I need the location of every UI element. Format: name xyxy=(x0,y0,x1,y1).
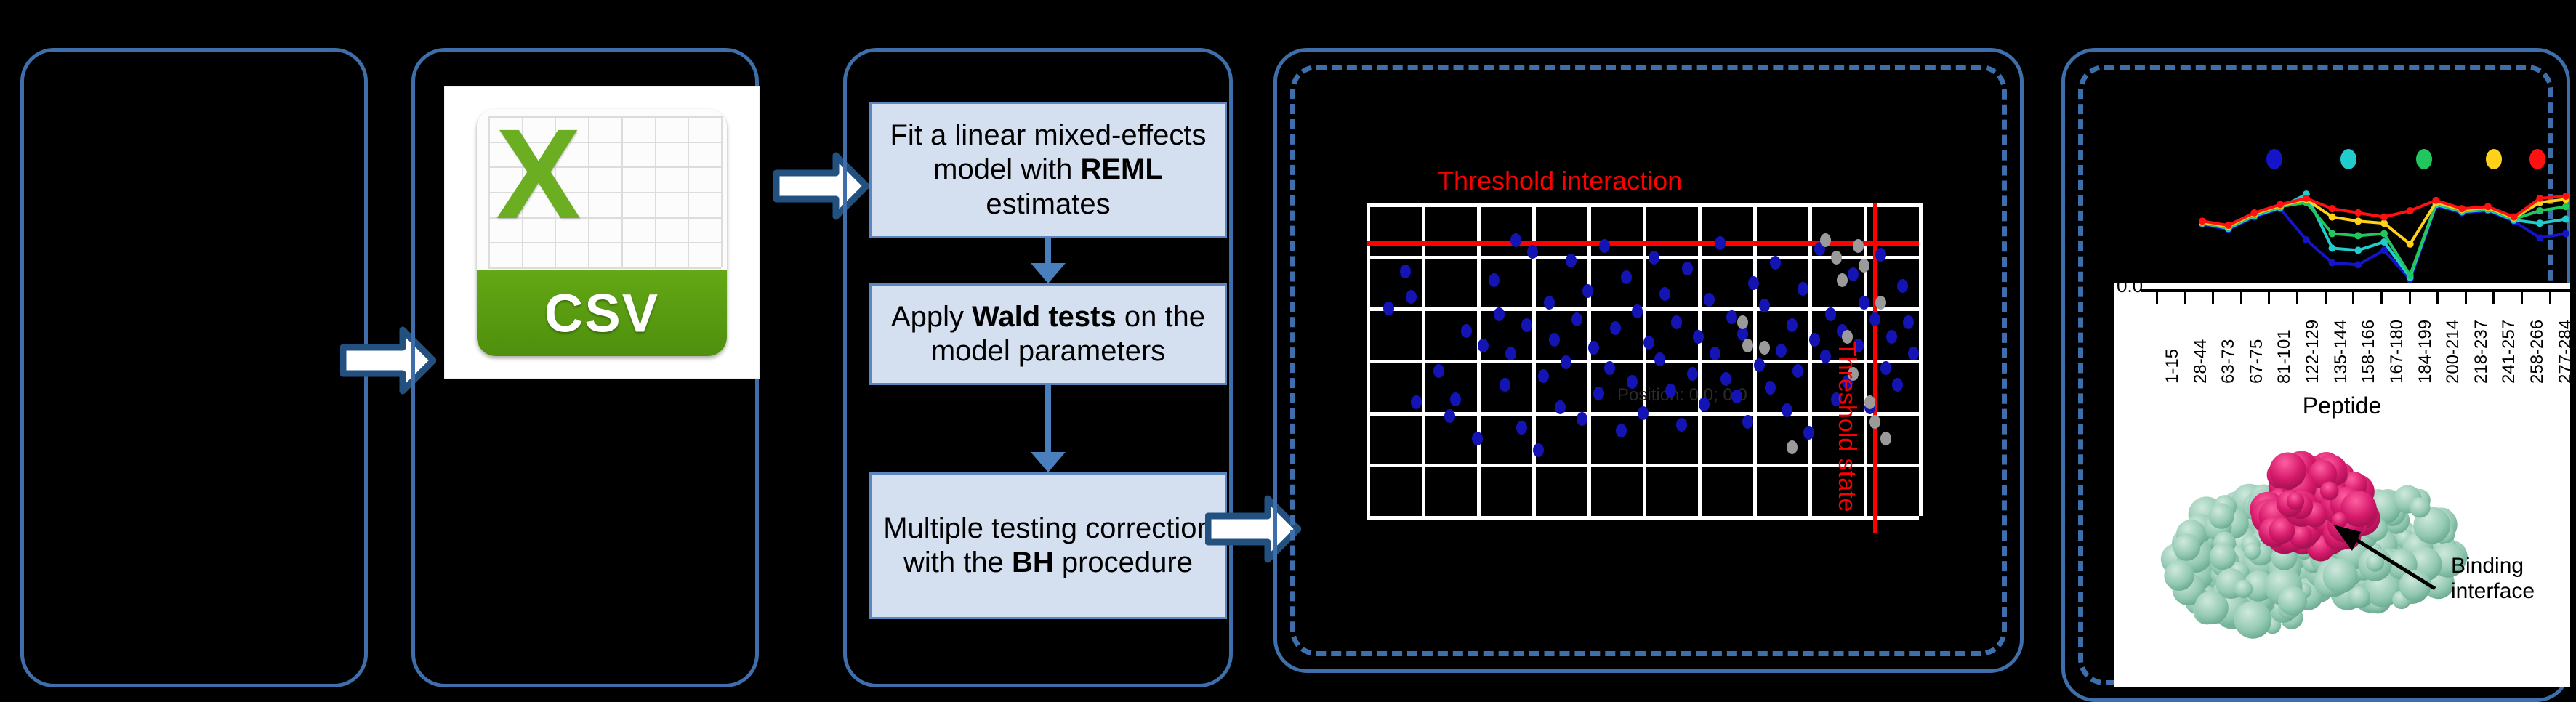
connector-arrowhead-2 xyxy=(1031,452,1066,472)
flow-step-wald[interactable]: Apply Wald tests on the model parameters xyxy=(869,283,1227,385)
y-axis-tick-label: 0.0 xyxy=(2117,283,2143,297)
scatter-point xyxy=(1478,339,1489,352)
panel-data-source xyxy=(20,48,368,687)
axis-tick-label: 135-144 xyxy=(2331,320,2351,384)
scatter-point xyxy=(1649,251,1659,265)
surface-blob xyxy=(2320,482,2339,501)
scatter-point xyxy=(1903,315,1914,329)
peptide-series-marker xyxy=(2329,214,2336,221)
axis-tick xyxy=(2521,292,2523,304)
axis-tick xyxy=(2380,292,2383,304)
scatter-point xyxy=(1820,233,1831,247)
peptide-series-marker xyxy=(2536,219,2543,227)
axis-tick-label: 258-266 xyxy=(2527,320,2548,384)
scatter-point xyxy=(1638,406,1649,420)
scatter-point xyxy=(1892,378,1903,392)
scatter-point xyxy=(1621,270,1632,284)
legend-dot xyxy=(2340,149,2356,169)
scatter-point xyxy=(1748,276,1759,290)
scatter-point xyxy=(1654,352,1665,366)
axis-tick xyxy=(2296,292,2298,304)
peptide-series-marker xyxy=(2407,272,2414,279)
csv-label: CSV xyxy=(477,283,727,344)
peptide-series-marker xyxy=(2562,203,2569,210)
surface-blob xyxy=(2234,601,2272,639)
scatter-point xyxy=(1665,384,1676,398)
axis-tick-label: 63-73 xyxy=(2218,339,2239,384)
axis-tick xyxy=(2268,292,2270,304)
scatter-point xyxy=(1676,418,1687,432)
scatter-point xyxy=(1886,330,1897,344)
axis-tick xyxy=(2436,292,2439,304)
scatter-point xyxy=(1869,415,1880,429)
peptide-series-marker xyxy=(2250,209,2258,217)
axis-tick-label: 200-214 xyxy=(2443,320,2463,384)
scatter-point xyxy=(1792,364,1803,378)
connector-arrowhead-1 xyxy=(1031,263,1066,283)
axis-tick-label: 1-15 xyxy=(2162,349,2183,384)
axis-tick xyxy=(2240,292,2242,304)
scatter-point xyxy=(1561,355,1571,369)
peptide-traces xyxy=(2093,149,2573,287)
axis-tick-label: 218-237 xyxy=(2471,320,2492,384)
surface-blob xyxy=(2244,543,2261,560)
scatter-point xyxy=(1500,378,1510,392)
surface-blob xyxy=(2278,586,2307,616)
scatter-point xyxy=(1737,315,1748,329)
x-axis-ticks xyxy=(2141,292,2570,305)
peptide-series-marker xyxy=(2303,195,2310,202)
axis-tick-label: 81-101 xyxy=(2274,329,2295,384)
scatter-point xyxy=(1798,282,1808,296)
axis-tick xyxy=(2156,292,2158,304)
surface-blob xyxy=(2269,453,2306,489)
peptide-series-marker xyxy=(2536,207,2543,214)
scatter-point xyxy=(1742,339,1753,352)
legend-dot xyxy=(2486,149,2502,169)
axis-tick-label: 158-166 xyxy=(2359,320,2379,384)
csv-file-icon: X CSV xyxy=(445,87,759,378)
threshold-interaction-label: Threshold interaction xyxy=(1438,166,1682,196)
surface-blob xyxy=(2323,559,2358,594)
scatter-point xyxy=(1837,273,1848,287)
surface-blob xyxy=(2208,503,2234,528)
axis-tick-label: 277-284 xyxy=(2556,320,2570,384)
scatter-point xyxy=(1411,395,1422,409)
figure-canvas: X CSV Fit a linear mixed-effects model w… xyxy=(0,0,2576,687)
scatter-point xyxy=(1544,296,1555,310)
peptide-series-marker xyxy=(2511,214,2518,221)
axis-tick-label: 67-75 xyxy=(2247,339,2267,384)
axis-tick xyxy=(2325,292,2327,304)
peptide-series-marker xyxy=(2562,230,2569,238)
scatter-point xyxy=(1461,324,1472,338)
scatter-point xyxy=(1671,315,1682,329)
peptide-series-marker xyxy=(2407,241,2414,248)
scatter-point xyxy=(1875,248,1886,262)
axis-tick-label: 122-129 xyxy=(2303,320,2323,384)
legend-dot xyxy=(2416,149,2432,169)
peptide-series-marker xyxy=(2199,217,2206,225)
scatter-point xyxy=(1588,341,1599,355)
scatter-point xyxy=(1599,239,1610,253)
peptide-series-marker xyxy=(2277,201,2284,208)
scatter-point xyxy=(1516,421,1527,435)
scatter-point xyxy=(1726,310,1737,324)
legend-dot xyxy=(2266,149,2282,169)
peptide-series-marker xyxy=(2354,217,2362,225)
axis-tick xyxy=(2549,292,2551,304)
peptide-series-marker xyxy=(2225,222,2232,229)
legend-dot xyxy=(2529,149,2545,169)
connector-1 xyxy=(1045,238,1051,266)
axis-tick xyxy=(2184,292,2186,304)
peptide-series-marker xyxy=(2380,214,2388,221)
scatter-point xyxy=(1593,387,1604,400)
binding-interface-annotation: Binding interface xyxy=(2451,554,2567,604)
peptide-series-marker xyxy=(2536,234,2543,241)
peptide-series-marker xyxy=(2484,203,2492,210)
axis-tick-label: 28-44 xyxy=(2191,339,2211,384)
axis-tick-label: 167-180 xyxy=(2387,320,2407,384)
peptide-series-marker xyxy=(2303,236,2310,243)
peptide-series-marker xyxy=(2329,205,2336,212)
peptide-series-marker xyxy=(2329,245,2336,252)
scatter-point xyxy=(1831,251,1842,265)
peptide-series-marker xyxy=(2432,197,2439,204)
peptide-series-marker xyxy=(2380,219,2388,227)
peptide-series-marker xyxy=(2354,232,2362,239)
axis-tick-label: 184-199 xyxy=(2415,320,2436,384)
peptide-axis-and-structure-card: 0.0 1-1528-4463-7367-7581-101122-129135-… xyxy=(2114,283,2570,687)
scatter-point xyxy=(1433,364,1444,378)
flow-step-bh[interactable]: Multiple testing correctionwith the BH p… xyxy=(869,472,1227,619)
peptide-series-marker xyxy=(2562,193,2569,200)
axis-tick xyxy=(2212,292,2214,304)
scatter-point xyxy=(1693,330,1704,344)
scatter-point xyxy=(1754,358,1765,372)
axis-tick xyxy=(2465,292,2467,304)
peptide-series-marker xyxy=(2536,195,2543,202)
surface-blob xyxy=(2348,586,2370,608)
scatter-point xyxy=(1859,296,1869,310)
connector-2 xyxy=(1045,385,1051,455)
peptide-series-marker xyxy=(2562,215,2569,222)
flow-step-reml[interactable]: Fit a linear mixed-effects model with RE… xyxy=(869,102,1227,238)
scatter-point xyxy=(1627,375,1638,389)
scatter-point xyxy=(1809,333,1820,347)
peptide-series-marker xyxy=(2329,230,2336,238)
scatter-point xyxy=(1864,395,1875,409)
peptide-series-marker xyxy=(2354,246,2362,254)
scatter-point xyxy=(1731,390,1742,403)
scatter-point xyxy=(1682,262,1693,275)
scatter-point xyxy=(1820,350,1831,363)
peptide-series-marker xyxy=(2329,259,2336,267)
scatter-point xyxy=(1406,290,1417,304)
surface-blob xyxy=(2164,560,2194,591)
scatter-point xyxy=(1616,424,1627,437)
axis-tick-label: 241-257 xyxy=(2499,320,2519,384)
scatter-point xyxy=(1610,321,1621,335)
scatter-point xyxy=(1444,409,1455,423)
scatter-point xyxy=(1759,299,1770,312)
scatter-point xyxy=(1825,307,1836,321)
scatter-point xyxy=(1710,347,1720,360)
peptide-series-marker xyxy=(2407,207,2414,214)
excel-x-glyph: X xyxy=(496,110,581,238)
scatter-point xyxy=(1566,254,1577,267)
scatter-point xyxy=(1897,279,1908,293)
surface-blob xyxy=(2410,497,2430,517)
threshold-state-label: Threshold state xyxy=(1832,342,1861,512)
protein-structure-image xyxy=(2143,437,2484,670)
surface-blob xyxy=(2332,512,2348,528)
surface-blob xyxy=(2173,533,2200,560)
scatter-point xyxy=(1875,296,1886,310)
surface-blob xyxy=(2287,492,2305,510)
scatter-point xyxy=(1848,267,1859,281)
peptide-series-marker xyxy=(2354,261,2362,268)
ghost-position-readout: Position: 0.0; 0.0 xyxy=(1617,385,1747,406)
surface-blob xyxy=(2210,544,2237,570)
axis-tick xyxy=(2352,292,2354,304)
scatter-point xyxy=(1765,381,1776,395)
axis-tick xyxy=(2492,292,2495,304)
scatter-point xyxy=(1782,403,1792,417)
scatter-point xyxy=(1787,440,1798,454)
scatter-point xyxy=(1450,392,1461,406)
scatter-point xyxy=(1687,367,1698,381)
scatter-point xyxy=(1699,398,1710,411)
threshold-interaction-line xyxy=(1367,241,1919,246)
scatter-point xyxy=(1527,245,1538,259)
x-axis-tick-labels: 1-1528-4463-7367-7581-101122-129135-1441… xyxy=(2141,308,2570,395)
axis-tick xyxy=(2409,292,2411,304)
scatter-point xyxy=(1643,336,1654,350)
surface-blob xyxy=(2234,580,2253,598)
x-axis-title: Peptide xyxy=(2114,392,2570,419)
scatter-point xyxy=(1533,443,1544,457)
scatter-point xyxy=(1505,347,1516,360)
peptide-series-marker xyxy=(2458,205,2466,212)
scatter-point xyxy=(1494,307,1505,321)
peptide-line-chart[interactable] xyxy=(2093,149,2573,287)
scatter-point xyxy=(1489,273,1500,287)
peptide-series-marker xyxy=(2380,230,2388,238)
peptide-series-marker xyxy=(2354,209,2362,217)
